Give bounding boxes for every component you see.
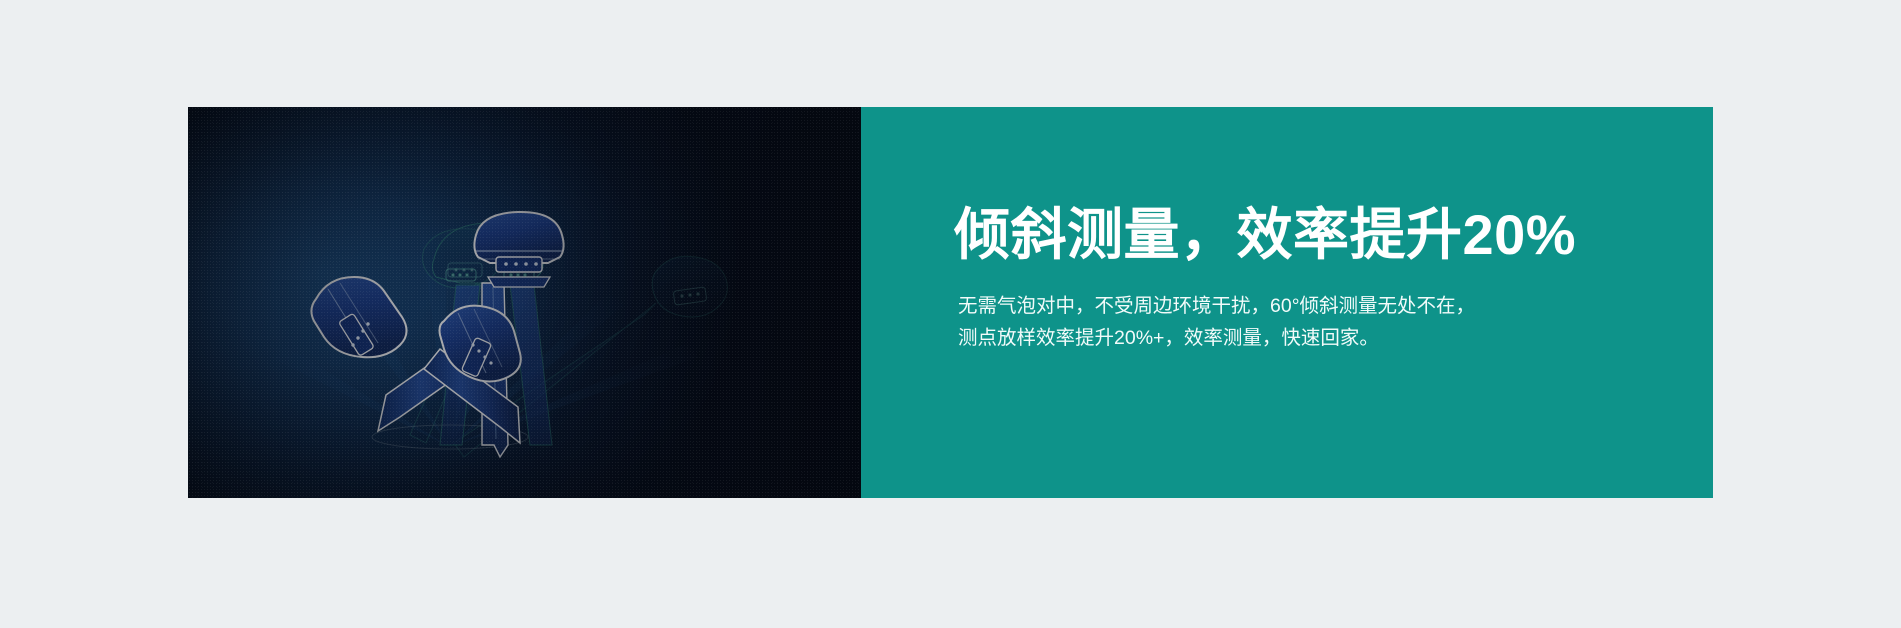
copy-panel: 倾斜测量，效率提升20% 无需气泡对中，不受周边环境干扰，60°倾斜测量无处不在… xyxy=(861,107,1713,498)
headline: 倾斜测量，效率提升20% xyxy=(954,205,1576,265)
body-line-2: 测点放样效率提升20%+，效率测量，快速回家。 xyxy=(958,323,1475,355)
feature-banner: 倾斜测量，效率提升20% 无需气泡对中，不受周边环境干扰，60°倾斜测量无处不在… xyxy=(188,107,1713,498)
body-copy: 无需气泡对中，不受周边环境干扰，60°倾斜测量无处不在， 测点放样效率提升20%… xyxy=(958,291,1475,354)
body-line-1: 无需气泡对中，不受周边环境干扰，60°倾斜测量无处不在， xyxy=(958,291,1475,323)
tilt-survey-scene-svg xyxy=(188,107,861,498)
product-illustration-panel xyxy=(188,107,861,498)
